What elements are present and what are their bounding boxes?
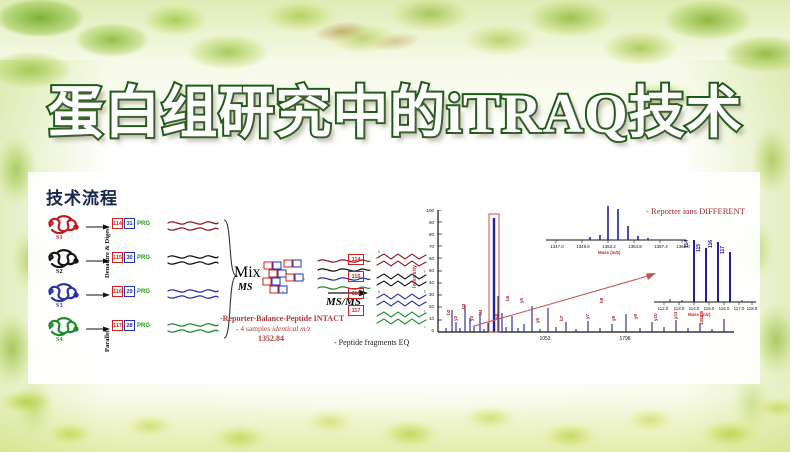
balance-box-s4: 28 [124, 320, 135, 331]
protein-blob-s4 [46, 316, 80, 338]
mixed-tag-cluster: xx [260, 258, 320, 298]
prg-label-s4: PRG [137, 323, 150, 329]
reporter-box-s1: 114 [112, 218, 123, 229]
annotation-samples-identical: - 4 samples identical m/z [236, 324, 311, 333]
reporter-peak-116: 116 [708, 240, 714, 248]
annotation-peptide-fragments: - Peptide fragments EQ [334, 338, 409, 347]
inset-x-axis-label: Mass (m/z) [598, 250, 620, 255]
reporter-ion-114: 114 [348, 254, 364, 265]
reporter-x-118: 118.0 [741, 306, 763, 311]
y-tick-50: 50 [420, 268, 434, 273]
inset-x-1354: 1354.8 [622, 244, 648, 249]
reporter-peak-115: 115 [696, 244, 702, 252]
section-title: 技术流程 [46, 184, 118, 209]
y-tick-70: 70 [420, 244, 434, 249]
workflow-diagram: S1 114 31 PRG [38, 216, 408, 376]
y-tick-90: 90 [420, 220, 434, 225]
spectrum-y-axis-label: Intensity [412, 265, 418, 288]
annotation-precursor-mass: 1352.84 [258, 334, 284, 343]
label-parallel: Parallel [104, 330, 111, 352]
protein-blob-s2 [46, 248, 80, 270]
balance-box-s1: 31 [124, 218, 135, 229]
sample-label-s2: S2 [56, 269, 63, 275]
reporter-ion-boxes: 114 115 116 117 [348, 254, 370, 326]
annotation-reporter-balance: -Reporter-Balance-Peptide INTACT [220, 314, 344, 323]
y-tick-30: 30 [420, 292, 434, 297]
reporter-peak-117: 117 [720, 246, 726, 254]
reporter-inset: 114 115 116 117 112.0 113.0 114.0 115.0 … [650, 236, 760, 322]
prg-label-s2: PRG [137, 255, 150, 261]
reporter-box-s3: 116 [112, 286, 123, 297]
ms-label: MS [238, 282, 252, 293]
arrow-digest-s3 [86, 291, 110, 299]
itraq-tag-s4: 117 28 PRG [112, 320, 150, 331]
slide-canvas: 蛋白组研究中的iTRAQ技术 技术流程 S1 [0, 0, 790, 452]
prg-label-s3: PRG [137, 289, 150, 295]
y-tick-0: 0 [420, 328, 434, 333]
balance-box-s3: 29 [124, 286, 135, 297]
y-tick-20: 20 [420, 304, 434, 309]
reporter-x-axis-label: Mass (m/z) [688, 312, 710, 317]
protein-blob-s1 [46, 214, 80, 236]
inset-x-1347: 1347.0 [544, 244, 570, 249]
x-tick-1798: 1798 [612, 336, 638, 342]
prg-label-s1: PRG [137, 221, 150, 227]
itraq-tag-s1: 114 31 PRG [112, 218, 150, 229]
content-panel: 技术流程 S1 114 [28, 172, 760, 384]
itraq-tag-s2: 115 30 PRG [112, 252, 150, 263]
svg-text:x: x [303, 276, 305, 281]
svg-text:x: x [282, 289, 284, 294]
y-tick-80: 80 [420, 232, 434, 237]
title-banner: 蛋白组研究中的iTRAQ技术 [0, 78, 790, 150]
itraq-tag-s3: 116 29 PRG [112, 286, 150, 297]
balance-box-s2: 30 [124, 252, 135, 263]
svg-text:b: b [378, 290, 380, 294]
inset-x-1349: 1349.6 [570, 244, 596, 249]
y-tick-10: 10 [420, 316, 434, 321]
zoom-connector-line [436, 272, 656, 328]
mix-label: Mix [234, 264, 261, 282]
y-tick-100: 100 [420, 208, 434, 213]
reporter-box-s2: 115 [112, 252, 123, 263]
reporter-inset-title: - Reporter ions DIFFERENT [646, 206, 745, 216]
sample-label-s3: S3 [56, 303, 63, 309]
label-denature-digest: Denature & Digest [104, 226, 111, 278]
sample-label-s1: S1 [56, 235, 63, 241]
peptide-squiggle-s2 [166, 251, 220, 269]
sample-label-s4: S4 [56, 337, 63, 343]
reporter-ion-116: 116 [348, 288, 364, 299]
reporter-peak-114: 114 [684, 240, 690, 248]
peptide-squiggle-s4 [166, 319, 220, 337]
svg-text:b: b [378, 250, 380, 254]
inset-x-1352: 1352.2 [596, 244, 622, 249]
reporter-box-s4: 117 [112, 320, 123, 331]
protein-blob-s3 [46, 282, 80, 304]
peptide-squiggle-s3 [166, 285, 220, 303]
y-tick-40: 40 [420, 280, 434, 285]
reporter-ion-115: 115 [348, 271, 364, 282]
reporter-inset-plot [650, 236, 760, 308]
ms-spectrum: Intensity 100 90 80 70 60 50 40 30 20 10… [414, 210, 754, 378]
y-tick-60: 60 [420, 256, 434, 261]
reporter-ion-117: 117 [348, 305, 364, 316]
x-tick-1053: 1053 [532, 336, 558, 342]
peptide-squiggle-s1 [166, 217, 220, 235]
page-title: 蛋白组研究中的iTRAQ技术 [47, 86, 742, 142]
